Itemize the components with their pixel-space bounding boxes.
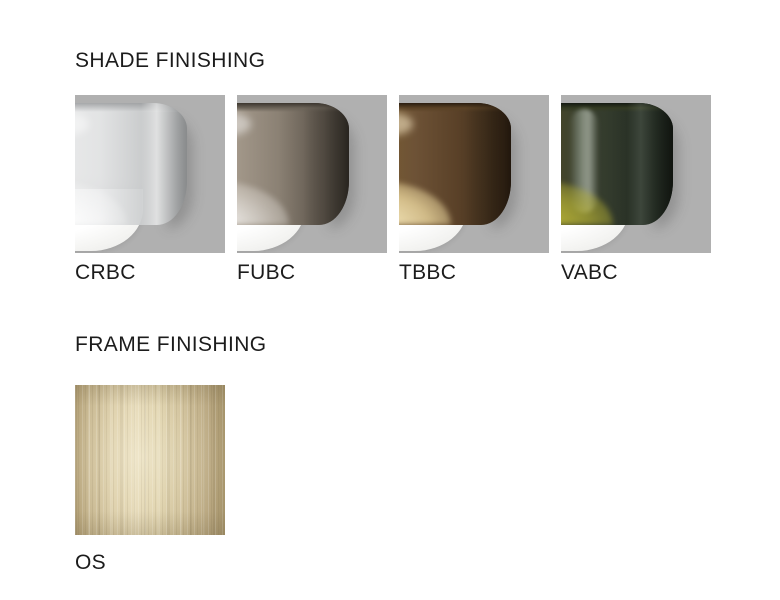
shade-swatch-crbc[interactable]: CRBC: [75, 95, 225, 253]
lamp-shade-illustration: [399, 103, 511, 235]
frame-swatch-os[interactable]: OS: [75, 385, 225, 535]
shade-swatch-row: CRBC FUBC: [75, 95, 775, 290]
dome-secondary-highlight: [237, 113, 251, 135]
shade-swatch-image-tbbc[interactable]: [399, 95, 549, 253]
dome-right-edge: [141, 103, 187, 225]
finishing-options-page: SHADE FINISHING CRBC: [0, 0, 780, 600]
shade-swatch-fubc[interactable]: FUBC: [237, 95, 387, 253]
dome-right-edge: [465, 103, 511, 225]
frame-swatch-image-os[interactable]: [75, 385, 225, 535]
dome-inner-glow: [399, 181, 451, 225]
shade-finishing-heading: SHADE FINISHING: [75, 49, 265, 73]
frame-swatch-label-os: OS: [75, 551, 106, 575]
lamp-shade-illustration: [237, 103, 349, 235]
lamp-shade-illustration: [561, 103, 673, 235]
frame-finishing-heading: FRAME FINISHING: [75, 333, 267, 357]
dome-right-edge: [303, 103, 349, 225]
shade-swatch-label-vabc: VABC: [561, 261, 618, 285]
shade-swatch-image-crbc[interactable]: [75, 95, 225, 253]
glass-dome: [399, 103, 511, 225]
shade-swatch-label-fubc: FUBC: [237, 261, 295, 285]
shade-swatch-label-crbc: CRBC: [75, 261, 136, 285]
shade-swatch-label-tbbc: TBBC: [399, 261, 456, 285]
dome-secondary-highlight: [399, 113, 413, 135]
dome-right-edge: [627, 103, 673, 225]
shade-swatch-image-fubc[interactable]: [237, 95, 387, 253]
glass-dome: [75, 103, 187, 225]
brass-sheen: [75, 385, 225, 535]
shade-swatch-image-vabc[interactable]: [561, 95, 711, 253]
shade-swatch-tbbc[interactable]: TBBC: [399, 95, 549, 253]
dome-inner-glow: [75, 181, 127, 225]
dome-inner-glow: [237, 181, 289, 225]
glass-dome: [237, 103, 349, 225]
dome-secondary-highlight: [75, 113, 89, 135]
shade-swatch-vabc[interactable]: VABC: [561, 95, 711, 253]
lamp-shade-illustration: [75, 103, 187, 235]
glass-dome: [561, 103, 673, 225]
